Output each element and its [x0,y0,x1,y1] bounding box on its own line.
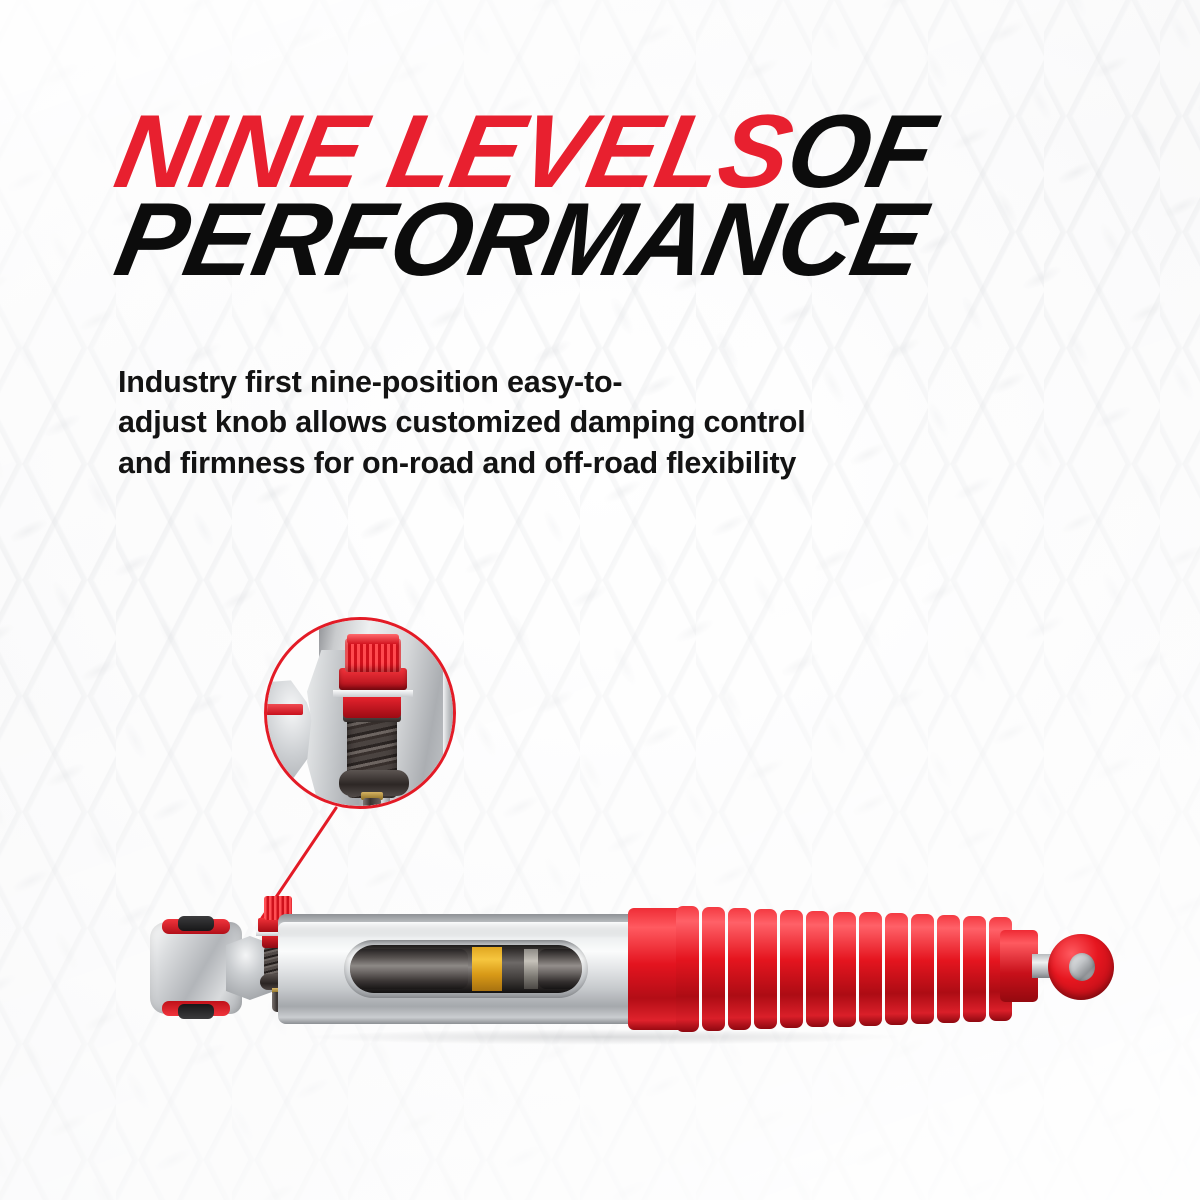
callout-body-edge [443,620,453,806]
adjuster-knob-callout [264,617,456,809]
callout-lower-collar [343,696,401,718]
piston-band-yellow [472,947,502,991]
callout-valve-stem [363,798,381,806]
callout-valve-pin [383,798,390,806]
boot-rib [963,916,986,1022]
boot-rib [859,912,882,1025]
feature-card: NINE LEVELS OF PERFORMANCE Industry firs… [0,0,1200,1200]
boot-rib [702,907,725,1031]
piston-tail-rod [538,949,582,989]
page-title: NINE LEVELS OF PERFORMANCE [118,106,1078,287]
headline-line-2-text: PERFORMANCE [109,194,931,288]
bellows-boot [676,904,1012,1034]
callout-bushing-tab [267,704,303,715]
piston-ring [502,948,524,990]
piston-rod [350,949,468,989]
boot-rib [806,911,829,1028]
boot-rib [885,913,908,1024]
boot-rib [676,906,699,1032]
bushing-sleeve-bottom [178,1004,214,1019]
boot-rib [833,912,856,1027]
callout-washer [333,690,413,697]
bushing-sleeve-top [178,916,214,931]
boot-rib [780,910,803,1029]
cylinder-highlight [278,922,638,936]
description-line-2: adjust knob allows customized damping co… [118,402,998,442]
product-image-shock-absorber [148,900,1078,1060]
headline-line-2: PERFORMANCE [118,194,1078,288]
description-line-1: Industry first nine-position easy-to- [118,362,998,402]
boot-rib [937,915,960,1023]
description-line-3: and firmness for on-road and off-road fl… [118,443,998,483]
callout-knob-cap [347,634,399,644]
piston-ring-secondary [524,949,538,989]
feature-description: Industry first nine-position easy-to- ad… [118,362,998,483]
right-eyelet-sleeve [1069,953,1095,981]
boot-rib [754,909,777,1030]
cutaway-window-interior [350,945,582,993]
callout-image [267,620,453,806]
boot-rib [911,914,934,1024]
boot-rib [728,908,751,1030]
